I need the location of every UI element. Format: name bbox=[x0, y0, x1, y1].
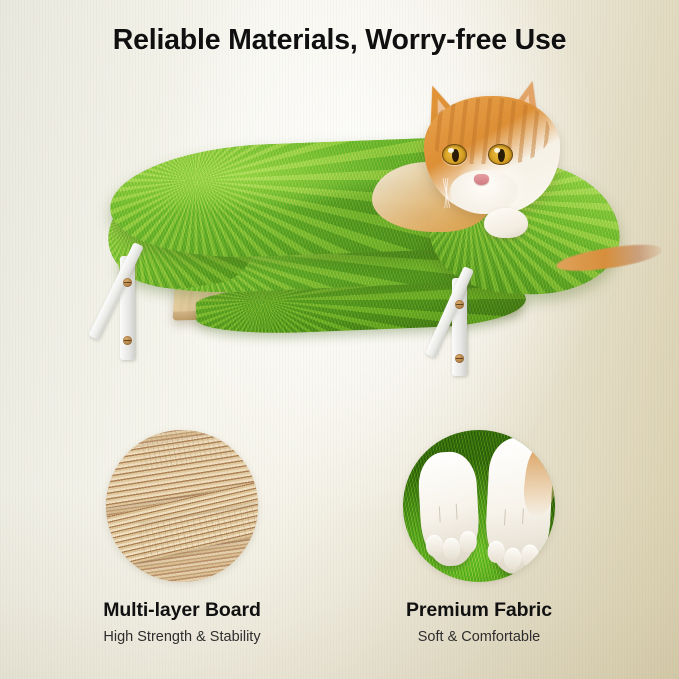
feature-title: Premium Fabric bbox=[349, 599, 609, 622]
paw-toe bbox=[521, 544, 539, 567]
mounting-bracket-left bbox=[118, 240, 188, 360]
paw-toe bbox=[504, 547, 522, 570]
paw-toe bbox=[443, 537, 461, 560]
feature-subtitle: High Strength & Stability bbox=[52, 629, 312, 645]
cat-eye-shine-right bbox=[494, 148, 500, 153]
hero-product-photo bbox=[0, 70, 679, 430]
bracket-screw-lower bbox=[123, 336, 132, 345]
orange-white-tabby-cat bbox=[388, 74, 648, 284]
page-title: Reliable Materials, Worry-free Use bbox=[0, 24, 679, 57]
feature-multi-layer-board: Multi-layer Board High Strength & Stabil… bbox=[52, 425, 312, 645]
bracket-screw-upper bbox=[455, 300, 464, 309]
feature-callouts: Multi-layer Board High Strength & Stabil… bbox=[0, 425, 679, 665]
plywood-layers-photo bbox=[106, 430, 258, 582]
cat-front-paw bbox=[484, 208, 528, 238]
feature-premium-fabric: Premium Fabric Soft & Comfortable bbox=[349, 425, 609, 645]
bracket-screw-lower bbox=[455, 354, 464, 363]
paw-toe bbox=[487, 540, 505, 563]
feature-title: Multi-layer Board bbox=[52, 599, 312, 622]
cat-paw-left bbox=[417, 451, 481, 568]
bracket-screw-upper bbox=[123, 278, 132, 287]
product-feature-image: Reliable Materials, Worry-free Use bbox=[0, 0, 679, 679]
paw-toe bbox=[425, 534, 443, 557]
paw-crease bbox=[456, 504, 458, 520]
feature-subtitle: Soft & Comfortable bbox=[349, 629, 609, 645]
paw-crease bbox=[504, 509, 506, 525]
cat-eye-right bbox=[488, 144, 514, 166]
paw-crease bbox=[522, 508, 524, 524]
paw-crease bbox=[439, 506, 441, 522]
cat-eye-left bbox=[442, 144, 467, 165]
cat-tail bbox=[555, 240, 663, 276]
cat-eye-shine-left bbox=[448, 148, 454, 153]
cat-paws-on-plush-photo bbox=[403, 430, 555, 582]
